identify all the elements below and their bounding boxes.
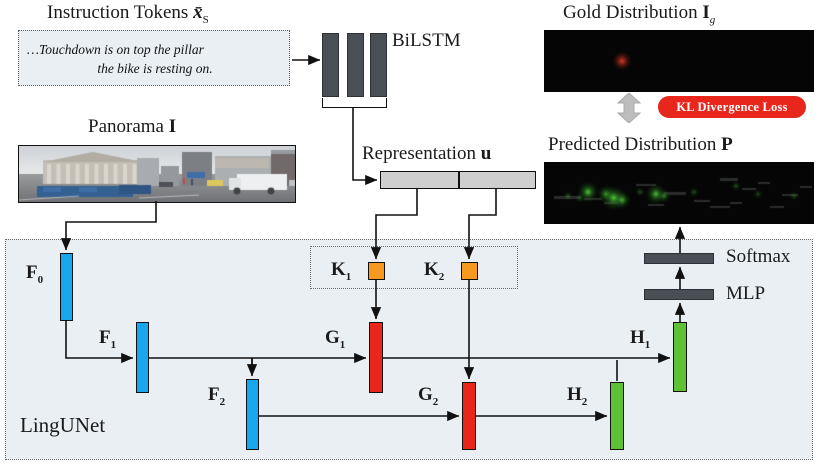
instruction-tokens-symbol: x̄ (193, 2, 203, 23)
layer-softmax-label: Softmax (726, 246, 790, 268)
block-f2 (246, 379, 259, 450)
block-g1-sub: 1 (340, 339, 346, 351)
block-g2 (462, 382, 476, 450)
instruction-text: …Touchdown is on top the pillar the bike… (19, 31, 291, 87)
block-f0 (60, 253, 73, 321)
block-h1-symbol: H (630, 327, 645, 348)
instruction-tokens-symbol-sub: S (203, 14, 209, 26)
block-g2-label: G2 (418, 384, 438, 408)
block-k2-symbol: K (424, 259, 439, 280)
instruction-line-2: the bike is resting on. (97, 59, 212, 78)
gold-distribution-image (544, 30, 814, 92)
instruction-tokens-title: Instruction Tokens x̄S (47, 2, 209, 26)
block-f2-symbol: F (208, 384, 220, 405)
bilstm-cell-1 (322, 33, 339, 97)
block-f0-symbol: F (26, 262, 38, 283)
block-g2-sub: 2 (433, 396, 439, 408)
block-f0-label: F0 (26, 262, 43, 286)
block-f2-label: F2 (208, 384, 225, 408)
block-f1 (136, 322, 149, 393)
block-k2-label: K2 (424, 259, 444, 283)
bilstm-brace (322, 98, 387, 108)
panorama-image (18, 145, 296, 203)
bilstm-cell-3 (370, 33, 387, 97)
block-h2-symbol: H (567, 384, 582, 405)
gold-distribution-symbol: I (702, 2, 709, 23)
panorama-symbol: I (169, 116, 176, 137)
bilstm-label: BiLSTM (392, 30, 461, 52)
block-g1-symbol: G (325, 327, 340, 348)
gold-distribution-canvas (544, 30, 814, 92)
block-f1-label: F1 (99, 327, 116, 351)
block-g1-label: G1 (325, 327, 345, 351)
block-k1-label: K1 (331, 259, 351, 283)
representation-title: Representation u (362, 143, 491, 165)
block-h2 (610, 382, 624, 450)
block-h1-label: H1 (630, 327, 650, 351)
predicted-distribution-canvas (544, 162, 814, 224)
double-arrow-icon (616, 93, 642, 123)
predicted-distribution-title-text: Predicted Distribution (548, 134, 716, 155)
block-h2-label: H2 (567, 384, 587, 408)
representation-vector (380, 171, 536, 189)
block-k1 (368, 262, 385, 280)
representation-split-divider (458, 172, 460, 188)
block-h1-sub: 1 (645, 339, 651, 351)
block-f1-symbol: F (99, 327, 111, 348)
block-g2-symbol: G (418, 384, 433, 405)
block-f0-sub: 0 (38, 274, 44, 286)
block-k2-sub: 2 (439, 271, 445, 283)
block-h2-sub: 2 (582, 396, 588, 408)
gold-distribution-title-text: Gold Distribution (563, 2, 698, 23)
predicted-distribution-image (544, 162, 814, 224)
block-f2-sub: 2 (220, 396, 226, 408)
figure-canvas: Instruction Tokens x̄S …Touchdown is on … (0, 0, 818, 464)
block-k2 (461, 262, 478, 280)
block-g1 (369, 322, 383, 393)
block-k1-symbol: K (331, 259, 346, 280)
block-k1-sub: 1 (346, 271, 352, 283)
layer-mlp-label: MLP (726, 283, 765, 305)
panorama-title: Panorama I (88, 116, 176, 138)
instruction-tokens-title-text: Instruction Tokens (47, 2, 188, 23)
instruction-line-1: …Touchdown is on top the pillar (27, 40, 204, 59)
predicted-distribution-title: Predicted Distribution P (548, 134, 733, 156)
panorama-canvas (19, 146, 295, 202)
bilstm-cell-2 (347, 33, 364, 97)
gold-distribution-symbol-sub: g (710, 14, 716, 26)
predicted-distribution-symbol: P (721, 134, 733, 155)
block-f1-sub: 1 (111, 339, 117, 351)
instruction-box: …Touchdown is on top the pillar the bike… (18, 30, 290, 86)
kl-divergence-loss-badge: KL Divergence Loss (658, 96, 806, 118)
representation-title-text: Representation (362, 143, 476, 164)
block-h1 (673, 322, 687, 392)
panorama-title-text: Panorama (88, 116, 164, 137)
layer-softmax (644, 253, 714, 264)
representation-symbol: u (481, 143, 492, 164)
layer-mlp (644, 289, 714, 300)
gold-distribution-title: Gold Distribution Ig (563, 2, 715, 26)
lingunet-label: LingUNet (20, 413, 105, 438)
